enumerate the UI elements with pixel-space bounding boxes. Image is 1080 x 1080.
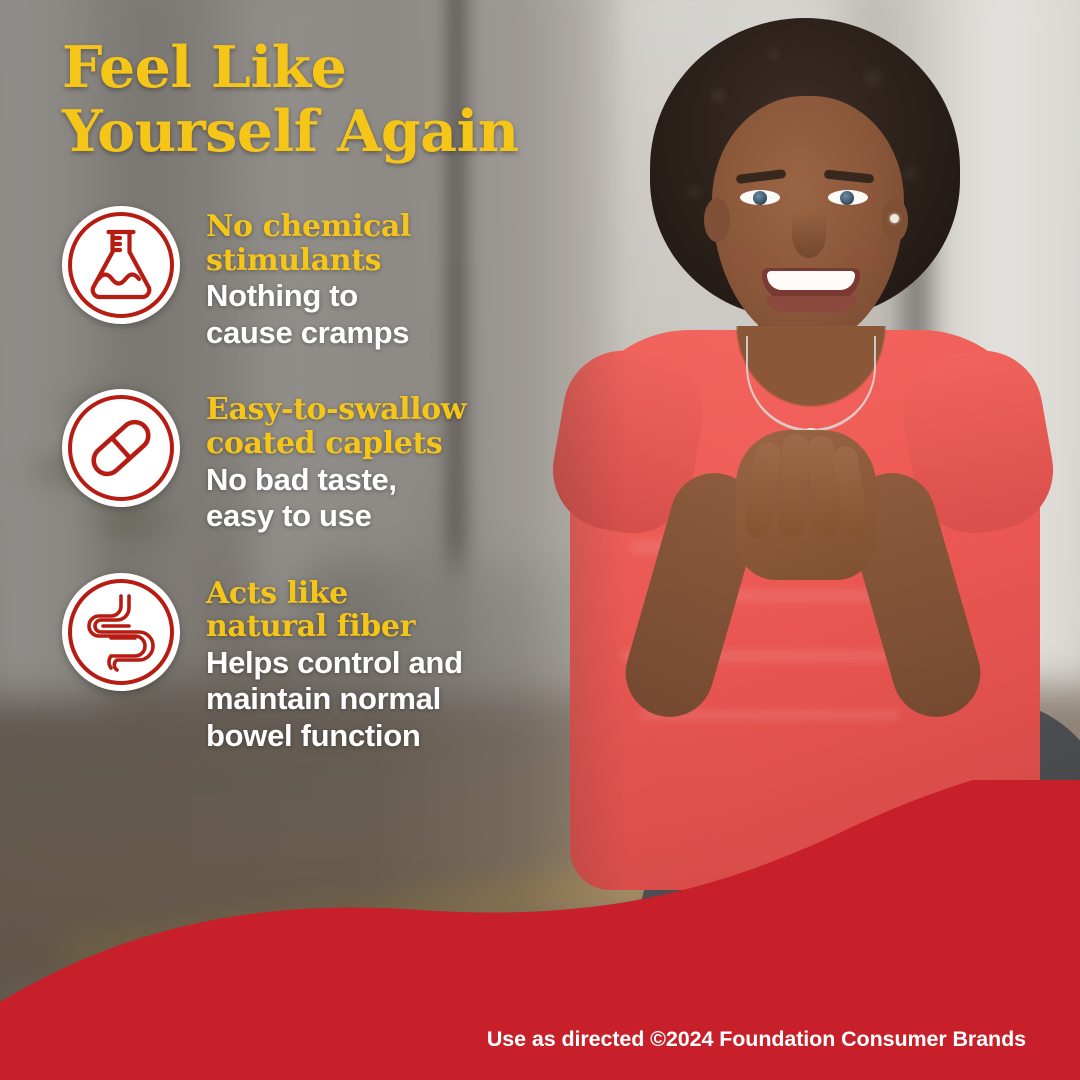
feature-title-line-1: Easy-to-swallow xyxy=(206,393,466,427)
feature-title: Acts like natural fiber xyxy=(206,577,463,644)
feature-item-no-chemical-stimulants: No chemical stimulants Nothing to cause … xyxy=(62,206,532,351)
feature-subtitle: Helps control and maintain normal bowel … xyxy=(206,645,463,755)
feature-title-line-2: coated caplets xyxy=(206,427,466,461)
feature-sub-line-2: maintain normal xyxy=(206,681,463,718)
advertisement-creative: Use as directed ©2024 Foundation Consume… xyxy=(0,0,1080,1080)
page-title: Feel Like Yourself Again xyxy=(62,36,519,164)
feature-title-line-2: stimulants xyxy=(206,244,411,278)
feature-sub-line-1: Helps control and xyxy=(206,645,463,682)
flask-icon xyxy=(84,226,158,304)
headline-line-1: Feel Like xyxy=(62,36,519,100)
feature-title: Easy-to-swallow coated caplets xyxy=(206,393,466,460)
legal-footer-text: Use as directed ©2024 Foundation Consume… xyxy=(487,1027,1026,1052)
feature-sub-line-2: easy to use xyxy=(206,498,466,535)
feature-subtitle: Nothing to cause cramps xyxy=(206,278,411,351)
feature-sub-line-2: cause cramps xyxy=(206,315,411,352)
feature-text: Acts like natural fiber Helps control an… xyxy=(206,573,463,755)
feature-icon-badge xyxy=(62,206,180,324)
feature-sub-line-3: bowel function xyxy=(206,718,463,755)
capsule-icon xyxy=(84,411,158,485)
feature-item-acts-like-natural-fiber: Acts like natural fiber Helps control an… xyxy=(62,573,532,755)
intestine-icon xyxy=(83,592,159,672)
feature-title-line-2: natural fiber xyxy=(206,610,463,644)
feature-title-line-1: Acts like xyxy=(206,577,463,611)
feature-text: No chemical stimulants Nothing to cause … xyxy=(206,206,411,351)
feature-item-easy-to-swallow-caplets: Easy-to-swallow coated caplets No bad ta… xyxy=(62,389,532,534)
feature-sub-line-1: Nothing to xyxy=(206,278,411,315)
feature-icon-badge xyxy=(62,573,180,691)
feature-text: Easy-to-swallow coated caplets No bad ta… xyxy=(206,389,466,534)
feature-title: No chemical stimulants xyxy=(206,210,411,277)
feature-icon-badge xyxy=(62,389,180,507)
feature-sub-line-1: No bad taste, xyxy=(206,462,466,499)
feature-list: No chemical stimulants Nothing to cause … xyxy=(62,206,532,755)
headline-line-2: Yourself Again xyxy=(62,100,519,164)
feature-subtitle: No bad taste, easy to use xyxy=(206,462,466,535)
feature-title-line-1: No chemical xyxy=(206,210,411,244)
